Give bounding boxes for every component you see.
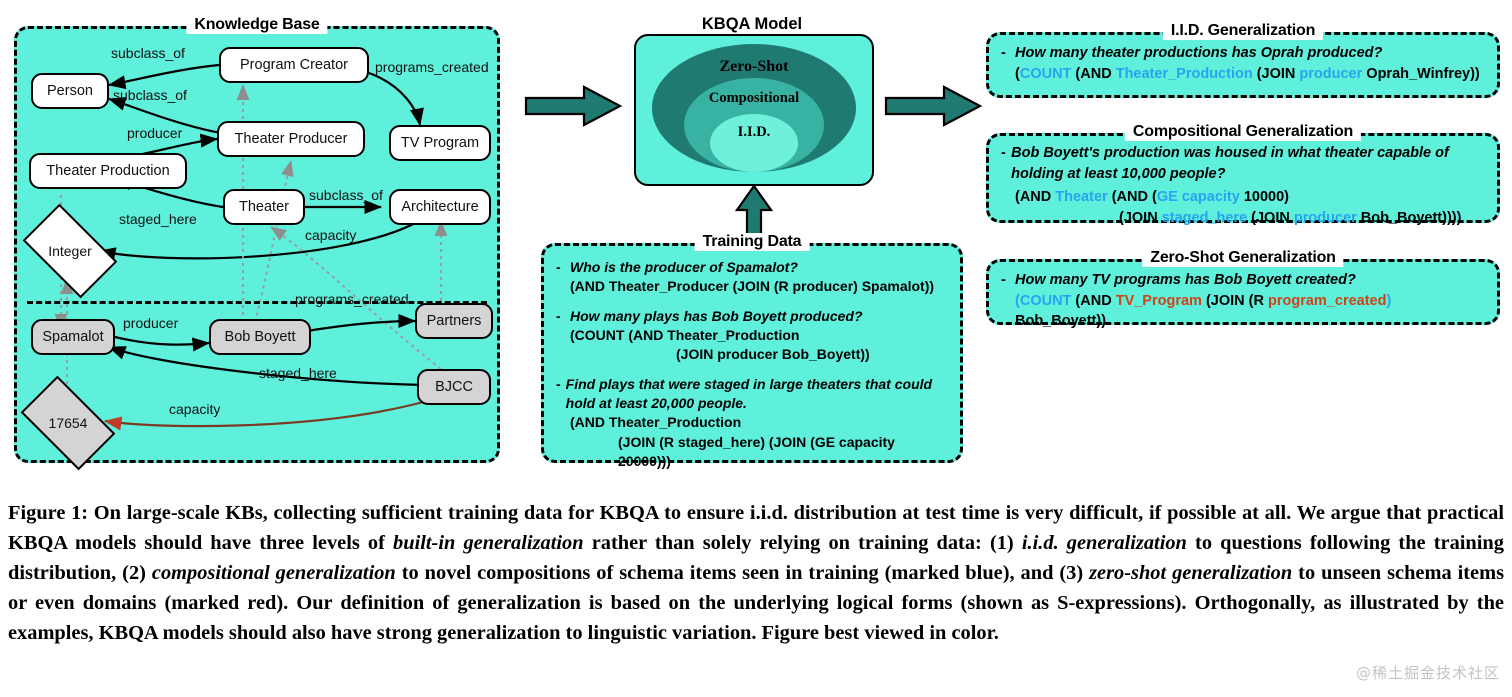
kb-edge-label-subclass-of-2: subclass_of [113, 87, 187, 103]
training-example-2: - How many plays has Bob Boyett produced… [556, 307, 946, 365]
kb-node-spamalot[interactable]: Spamalot [31, 319, 115, 355]
training-question-1: Who is the producer of Spamalot? [570, 258, 798, 277]
lf-token: Bob_Boyett)))) [1357, 210, 1462, 226]
compositional-generalization-title: Compositional Generalization [1125, 123, 1361, 141]
kb-node-tv-program[interactable]: TV Program [389, 125, 491, 161]
lf-token: ) [1386, 293, 1391, 309]
lf-token: Oprah_Winfrey)) [1362, 66, 1480, 82]
compositional-logical-form-line-2: (JOIN staged_here (JOIN producer Bob_Boy… [1119, 208, 1485, 229]
kb-edge-label-capacity-1: capacity [305, 227, 356, 243]
kb-edge-label-capacity-2: capacity [169, 401, 220, 417]
ring-compositional-label: Compositional [709, 90, 799, 107]
figure-caption: Figure 1: On large-scale KBs, collecting… [8, 498, 1504, 648]
iid-logical-form: (COUNT (AND Theater_Production (JOIN pro… [1015, 64, 1485, 85]
caption-text-2: rather than solely relying on training d… [584, 532, 1022, 554]
lf-token: Bob_Boyett)) [1015, 313, 1106, 329]
ring-zero-shot-label: Zero-Shot [719, 58, 788, 76]
training-example-3: - Find plays that were staged in large t… [556, 375, 946, 472]
caption-em-3: compositional generalization [152, 562, 396, 584]
training-logical-form-2-line-1: (COUNT (AND Theater_Production [570, 326, 946, 345]
kb-edge-label-staged-here-2: staged_here [259, 365, 337, 381]
kb-edge-label-producer-2: producer [123, 315, 178, 331]
caption-em-4: zero-shot generalization [1089, 562, 1292, 584]
lf-token: (AND [1071, 66, 1115, 82]
kb-node-partners[interactable]: Partners [415, 303, 493, 339]
kbqa-model-title: KBQA Model [634, 15, 870, 34]
knowledge-base-panel: Knowledge Base [14, 26, 500, 463]
lf-token: staged_here [1162, 210, 1247, 226]
lf-token: 10000) [1240, 189, 1289, 205]
lf-token: Theater_Production [1116, 66, 1253, 82]
kb-node-integer[interactable]: Integer [29, 225, 111, 277]
arrow-kb-to-model [524, 84, 634, 128]
kb-edge-label-producer-1: producer [127, 125, 182, 141]
lf-token: (JOIN (R [1202, 293, 1268, 309]
ring-iid-label: I.I.D. [738, 124, 771, 141]
lf-token: TV_Program [1116, 293, 1202, 309]
kb-node-architecture[interactable]: Architecture [389, 189, 491, 225]
arrow-model-to-results [884, 84, 994, 128]
training-logical-form-2-line-2: (JOIN producer Bob_Boyett)) [676, 345, 946, 364]
iid-question: How many theater productions has Oprah p… [1015, 43, 1382, 64]
training-example-1: - Who is the producer of Spamalot? (AND … [556, 258, 946, 297]
training-logical-form-3-line-2: (JOIN (R staged_here) (JOIN (GE capacity… [618, 433, 946, 472]
training-data-panel: Training Data - Who is the producer of S… [541, 243, 963, 463]
iid-generalization-panel: I.I.D. Generalization - How many theater… [986, 32, 1500, 98]
training-question-2: How many plays has Bob Boyett produced? [570, 307, 863, 326]
kb-node-bjcc[interactable]: BJCC [417, 369, 491, 405]
kb-node-integer-label: Integer [48, 243, 92, 259]
training-logical-form-3-line-1: (AND Theater_Production [570, 413, 946, 432]
caption-text-4: to novel compositions of schema items se… [396, 562, 1089, 584]
kb-edge-label-subclass-of-3: subclass_of [309, 187, 383, 203]
kb-node-person[interactable]: Person [31, 73, 109, 109]
lf-token: (AND [1071, 293, 1115, 309]
kbqa-model-panel: Zero-Shot Compositional I.I.D. [634, 34, 874, 186]
lf-token: producer [1299, 66, 1362, 82]
zero-shot-logical-form: (COUNT (AND TV_Program (JOIN (R program_… [1015, 291, 1485, 332]
bullet: - [556, 307, 570, 326]
lf-token: Theater [1055, 189, 1107, 205]
lf-token: COUNT [1020, 66, 1072, 82]
lf-token: program_created [1268, 293, 1386, 309]
lf-token: (AND [1015, 189, 1055, 205]
iid-generalization-title: I.I.D. Generalization [1163, 22, 1323, 40]
kb-edge-label-programs-created-2: programs_created [295, 291, 409, 307]
kb-node-program-creator[interactable]: Program Creator [219, 47, 369, 83]
caption-label: Figure 1: [8, 502, 88, 524]
lf-token: (JOIN [1253, 66, 1300, 82]
bullet: - [1001, 43, 1015, 64]
bullet: - [556, 375, 566, 414]
kb-node-bob-boyett[interactable]: Bob Boyett [209, 319, 311, 355]
bullet: - [1001, 143, 1011, 184]
lf-token: (AND ( [1108, 189, 1157, 205]
training-data-title: Training Data [695, 233, 810, 251]
kb-edge-label-staged-here-1: staged_here [119, 211, 197, 227]
kb-edge-label-subclass-of-1: subclass_of [111, 45, 185, 61]
zero-shot-generalization-title: Zero-Shot Generalization [1142, 249, 1343, 267]
kb-schema-instance-divider [27, 301, 487, 304]
lf-token: producer [1294, 210, 1357, 226]
kb-edge-label-programs-created-1: programs_created [375, 59, 489, 75]
compositional-generalization-panel: Compositional Generalization - Bob Boyet… [986, 133, 1500, 223]
zero-shot-generalization-panel: Zero-Shot Generalization - How many TV p… [986, 259, 1500, 325]
compositional-question: Bob Boyett's production was housed in wh… [1011, 143, 1485, 184]
lf-token: (JOIN [1119, 210, 1162, 226]
zero-shot-question: How many TV programs has Bob Boyett crea… [1015, 270, 1356, 291]
lf-token: (JOIN [1247, 210, 1294, 226]
kb-node-theater-producer[interactable]: Theater Producer [217, 121, 365, 157]
kb-graph: Person Program Creator Theater Producer … [17, 29, 497, 460]
kb-node-17654-label: 17654 [49, 415, 88, 431]
training-logical-form-1-line-1: (AND Theater_Producer (JOIN (R producer)… [570, 277, 946, 296]
bullet: - [1001, 270, 1015, 291]
kb-node-17654[interactable]: 17654 [27, 397, 109, 449]
lf-token: GE capacity [1157, 189, 1240, 205]
kb-node-theater[interactable]: Theater [223, 189, 305, 225]
lf-token: COUNT [1020, 293, 1072, 309]
caption-em-1: built-in generalization [393, 532, 584, 554]
compositional-logical-form-line-1: (AND Theater (AND (GE capacity 10000) [1015, 187, 1485, 208]
caption-em-2: i.i.d. generalization [1022, 532, 1187, 554]
kb-node-theater-production[interactable]: Theater Production [29, 153, 187, 189]
watermark: @稀土掘金技术社区 [1356, 662, 1500, 683]
training-question-3: Find plays that were staged in large the… [566, 375, 946, 414]
ring-iid: I.I.D. [710, 114, 798, 172]
bullet: - [556, 258, 570, 277]
